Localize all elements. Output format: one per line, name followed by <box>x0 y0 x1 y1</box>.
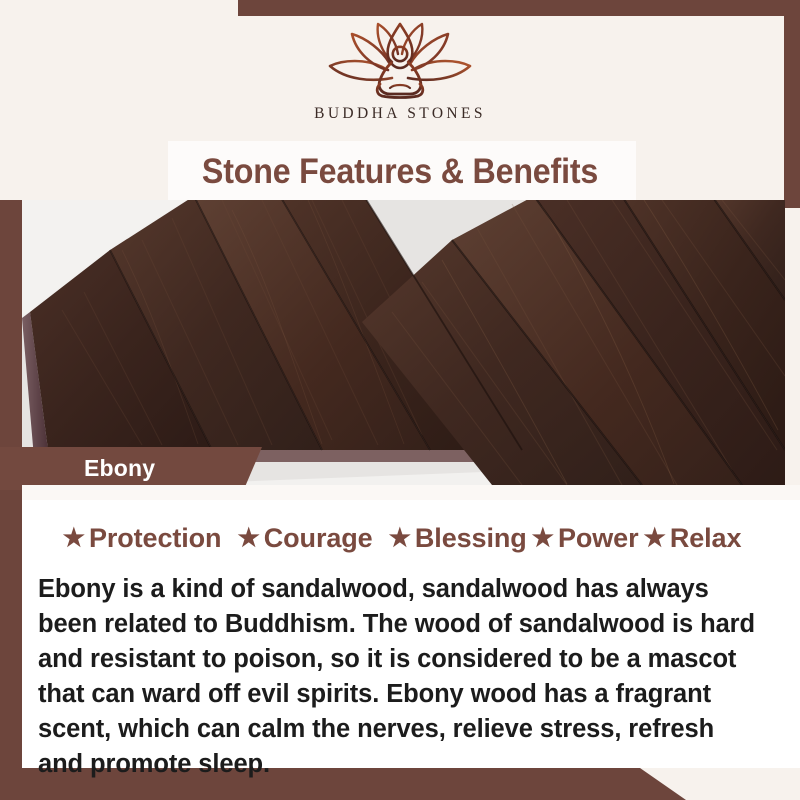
brand-logo: BUDDHA STONES <box>0 18 800 123</box>
feature-item-courage: ★Courage <box>237 523 372 554</box>
brand-name: BUDDHA STONES <box>314 105 486 123</box>
feature-item-protection: ★Protection <box>63 523 222 554</box>
poster-root: BUDDHA STONES Stone Features & Benefits <box>0 0 800 800</box>
description-text: Ebony is a kind of sandalwood, sandalwoo… <box>38 572 763 782</box>
ebony-wood-planks-photo <box>22 200 785 485</box>
lotus-meditation-icon <box>316 18 484 102</box>
feature-label: Blessing <box>415 523 527 554</box>
stone-label: Ebony <box>84 449 155 488</box>
features-list: ★Protection ★Courage ★Blessing ★Power ★R… <box>22 523 782 554</box>
feature-item-blessing: ★Blessing <box>389 523 527 554</box>
star-icon: ★ <box>389 526 411 551</box>
feature-label: Protection <box>89 523 222 554</box>
star-icon: ★ <box>63 526 85 551</box>
star-icon: ★ <box>532 526 554 551</box>
feature-label: Power <box>558 523 639 554</box>
star-icon: ★ <box>644 526 666 551</box>
page-title: Stone Features & Benefits <box>32 141 768 203</box>
star-icon: ★ <box>237 526 259 551</box>
feature-label: Courage <box>264 523 373 554</box>
feature-label: Relax <box>670 523 742 554</box>
brand-header: BUDDHA STONES <box>0 0 800 142</box>
feature-item-power: ★Power <box>532 523 639 554</box>
feature-item-relax: ★Relax <box>644 523 742 554</box>
